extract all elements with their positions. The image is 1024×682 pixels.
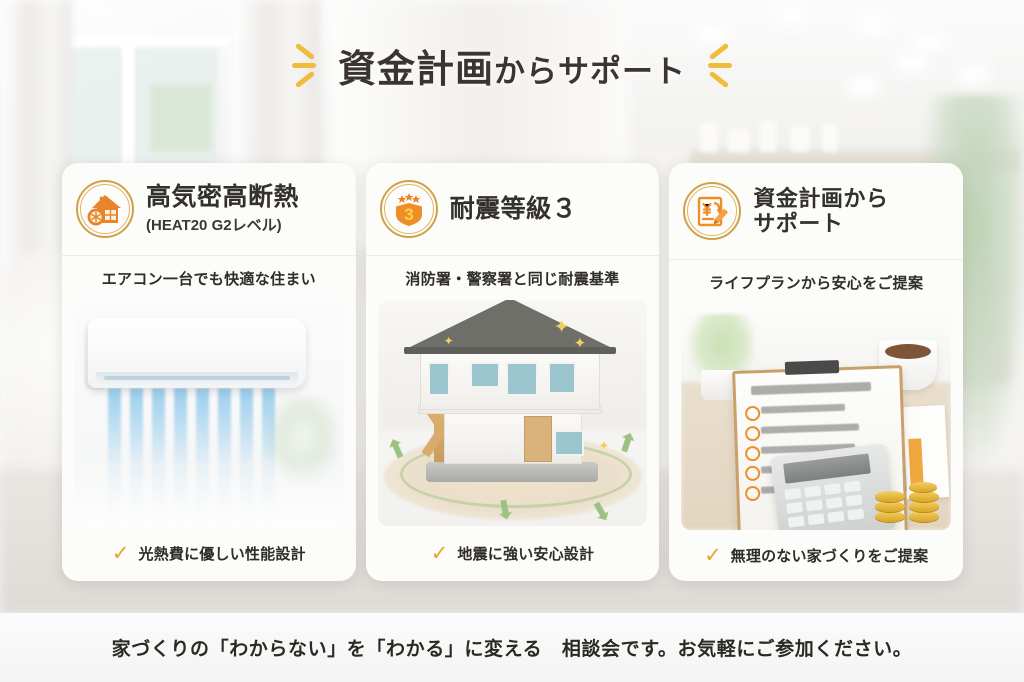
shield-grade3-icon: 3 [380,180,438,238]
shelf-item [790,126,810,152]
financial-plan-desk-photo [681,304,951,530]
card-footer-text: 無理のない家づくりをご提案 [731,545,929,566]
coin-stack [909,511,939,522]
shelf-item [700,122,718,152]
card-header: 資金計画から サポート [669,163,963,260]
house-insulation-icon [76,180,134,238]
shelf-item [728,128,750,152]
shelf-item [822,124,838,152]
coffee-liquid [885,344,931,359]
coin-stack [875,501,905,512]
sparkle-decor: ✦ [574,334,587,352]
card-title-line1: 資金計画から [753,186,888,211]
card-title: 高気密高断熱 [146,183,299,212]
feature-card-list: 高気密高断熱 (HEAT20 G2レベル) エアコン一台でも快適な住まい [62,163,963,583]
yen-document-pencil-icon [683,182,741,240]
coin-stack [909,501,939,512]
house-door [524,416,552,462]
sparkle-decor: ✦ [554,316,570,339]
air-conditioner-photo [74,300,344,526]
check-icon: ✓ [704,545,722,566]
page-title: 資金計画からサポート [338,38,686,93]
ceiling-spot [780,12,800,19]
model-house-photo: ⬆ ⬆ ⬆ ⬆ [378,300,648,526]
feature-card-insulation[interactable]: 高気密高断熱 (HEAT20 G2レベル) エアコン一台でも快適な住まい [62,163,356,581]
ceiling-spot [860,20,886,29]
card-heading-group: 耐震等級３ [450,195,578,224]
card-header: 高気密高断熱 (HEAT20 G2レベル) [62,163,356,256]
green-arrow: ⬆ [492,494,518,523]
card-footer: ✓ 無理のない家づくりをご提案 [669,530,963,581]
card-title: 耐震等級３ [450,195,578,224]
sparkle-right-icon [702,41,736,89]
coin-stack [875,491,905,502]
sparkle-left-icon [288,41,322,89]
house-window [470,362,500,388]
house-window [506,362,538,396]
clipboard-clamp [785,360,839,375]
banner-text: 家づくりの「わからない」を「わかる」に変える 相談会です。お気軽にご参加ください… [112,634,913,661]
card-description: エアコン一台でも快適な住まい [62,256,356,300]
sparkle-decor: ✦ [598,438,609,454]
check-icon: ✓ [431,543,449,564]
feature-card-earthquake[interactable]: 3 耐震等級３ 消防署・警察署と同じ耐震基準 ⬆ ⬆ ⬆ ⬆ [366,163,660,581]
card-heading-group: 高気密高断熱 (HEAT20 G2レベル) [146,183,299,236]
feature-card-financial-plan[interactable]: 資金計画から サポート ライフプランから安心をご提案 [669,163,963,581]
calculator-screen [783,453,871,483]
check-icon: ✓ [112,543,130,564]
house-window [554,430,584,456]
poster-stage: 資金計画からサポート [0,0,1024,682]
airflow-graphic [74,388,344,526]
bottom-banner: 家づくりの「わからない」を「わかる」に変える 相談会です。お気軽にご参加ください… [0,613,1024,682]
card-heading-group: 資金計画から サポート [753,186,888,237]
coin-stack [875,511,905,522]
house-foundation [426,462,598,482]
sparkle-decor: ✦ [444,334,454,348]
card-footer: ✓ 光熱費に優しい性能設計 [62,526,356,581]
card-subtitle: (HEAT20 G2レベル) [146,214,299,235]
shelf-item [760,120,776,152]
coin-stack [909,482,937,492]
card-header: 3 耐震等級３ [366,163,660,256]
card-footer-text: 地震に強い安心設計 [457,543,594,564]
card-description: 消防署・警察署と同じ耐震基準 [366,256,660,300]
coin-stack [909,491,939,502]
card-title-line2: サポート [753,211,888,236]
aircon-vent [104,376,290,380]
card-footer-text: 光熱費に優しい性能設計 [139,543,306,564]
house-window [548,362,576,394]
house-window [428,362,450,396]
card-description: ライフプランから安心をご提案 [669,260,963,304]
page-title-row: 資金計画からサポート [0,34,1024,96]
grade-number: 3 [404,205,413,224]
card-footer: ✓ 地震に強い安心設計 [366,526,660,581]
